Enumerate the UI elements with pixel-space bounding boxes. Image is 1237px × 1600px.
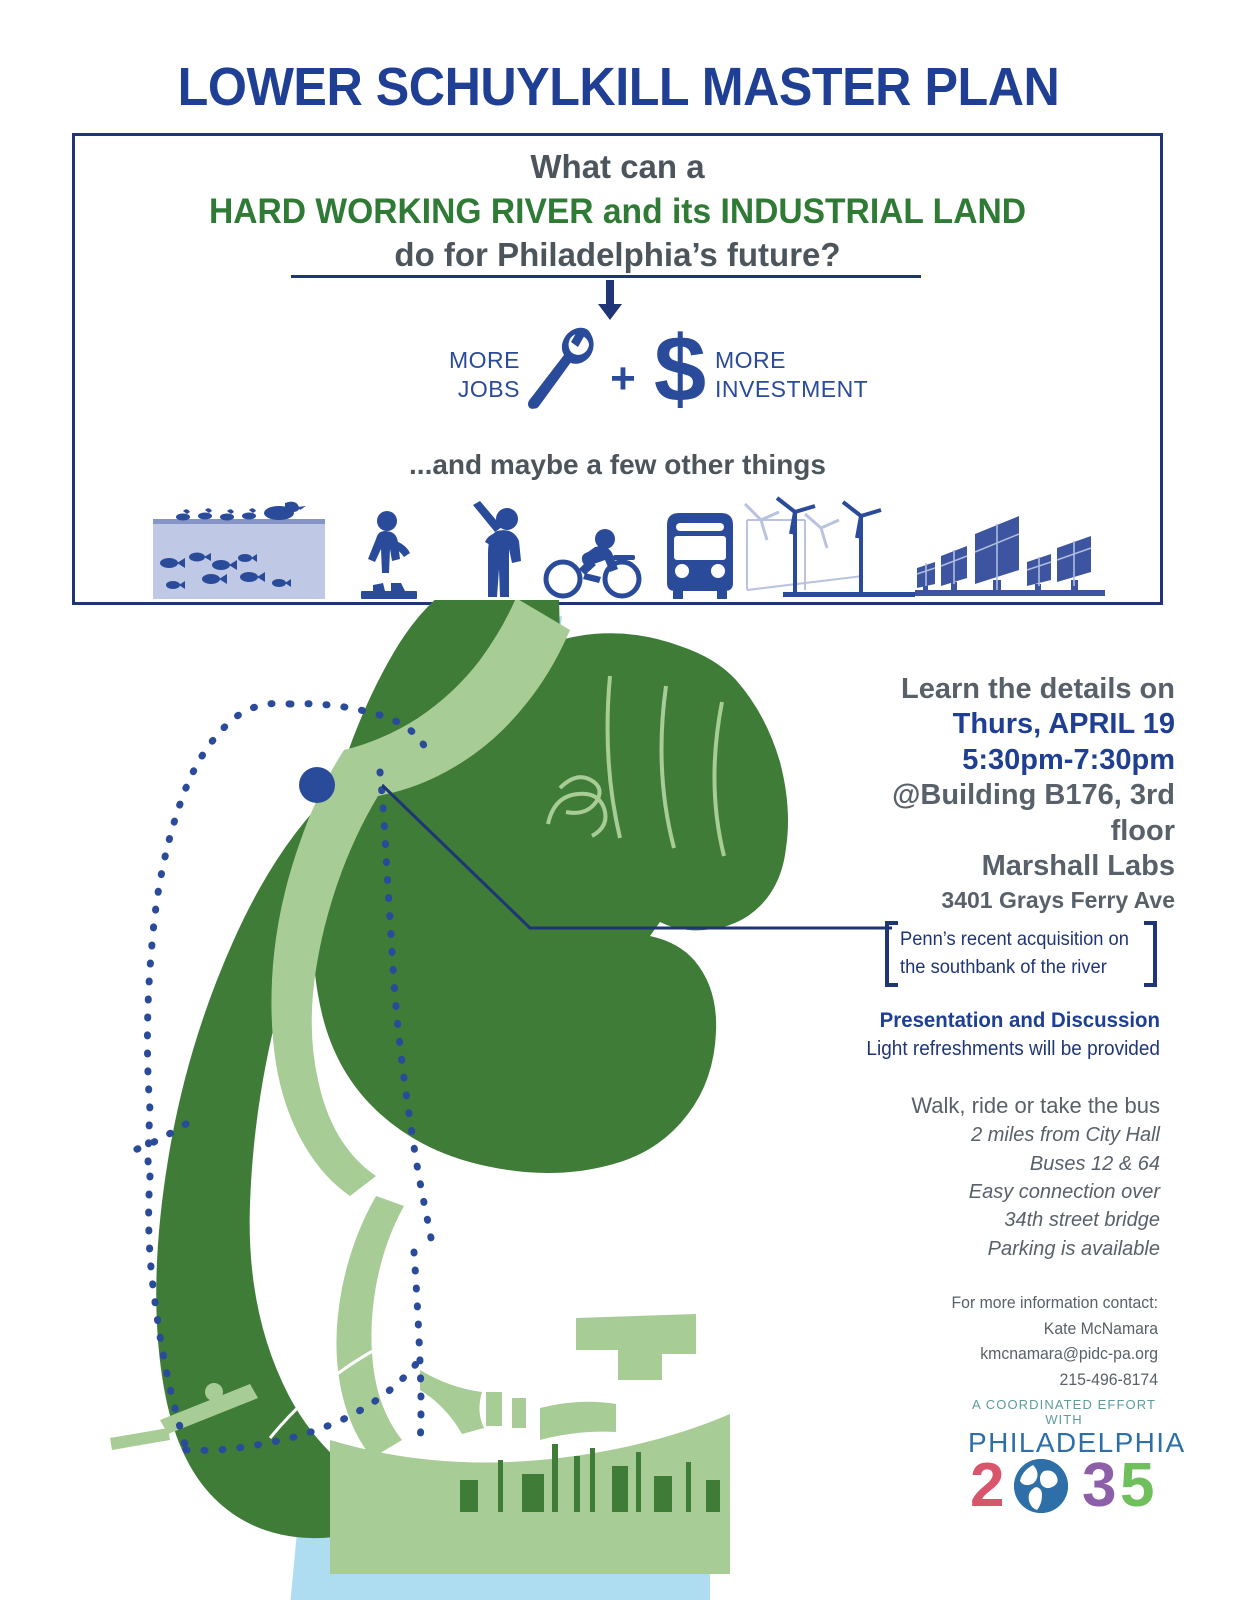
site-marker-dot	[299, 767, 335, 803]
event-time: 5:30pm-7:30pm	[820, 743, 1175, 778]
walking-person-icon	[355, 509, 423, 599]
callout-line-2: the southbank of the river	[900, 953, 1131, 981]
logo-kicker: A COORDINATED EFFORT WITH	[968, 1397, 1160, 1427]
event-date: Thurs, APRIL 19	[820, 707, 1175, 742]
solar-panels-icon	[915, 504, 1105, 599]
presentation-heading: Presentation and Discussion	[837, 1006, 1160, 1035]
plus-icon: +	[603, 354, 643, 404]
baseball-player-icon	[463, 501, 537, 599]
question-line-3: do for Philadelphia’s future?	[75, 236, 1160, 275]
water-ducks-fish-icon	[153, 501, 325, 599]
transit-line-3: 34th street bridge	[820, 1206, 1160, 1234]
dollar-sign-icon: $	[645, 322, 715, 416]
event-building: @Building B176, 3rd floor	[820, 778, 1175, 849]
map-callout: Penn’s recent acquisition on the southba…	[884, 921, 1158, 987]
more-investment-label: MORE INVESTMENT	[715, 346, 915, 404]
cyclist-icon	[543, 527, 643, 599]
logo-year-digits: 2 3 5	[968, 1455, 1160, 1513]
benefits-row: MORE JOBS + $ MORE INVESTMENT	[75, 326, 1160, 436]
refreshments-note: Light refreshments will be provided	[837, 1035, 1160, 1063]
more-jobs-line-2: JOBS	[410, 375, 520, 404]
more-investment-line-2: INVESTMENT	[715, 375, 915, 404]
maybe-other-things-text: ...and maybe a few other things	[75, 449, 1160, 481]
amenity-icon-strip	[75, 494, 1166, 599]
question-line-1: What can a	[75, 148, 1160, 187]
presentation-block: Presentation and Discussion Light refres…	[820, 1006, 1160, 1063]
transit-line-2: Easy connection over	[820, 1178, 1160, 1206]
down-arrow-icon	[596, 280, 624, 320]
learn-details-label: Learn the details on	[820, 672, 1175, 707]
more-jobs-line-1: MORE	[410, 346, 520, 375]
transit-line-1: Buses 12 & 64	[820, 1150, 1160, 1178]
arm-map-graphic	[0, 600, 840, 1600]
callout-leader-line	[382, 780, 892, 958]
transit-block: Walk, ride or take the bus 2 miles from …	[820, 1090, 1160, 1263]
event-address: 3401 Grays Ferry Ave	[820, 886, 1175, 916]
transit-heading: Walk, ride or take the bus	[820, 1090, 1160, 1121]
contact-phone: 215-496-8174	[899, 1367, 1158, 1393]
logo-digit-2: 2	[970, 1455, 1004, 1517]
more-jobs-label: MORE JOBS	[410, 346, 520, 404]
contact-block: For more information contact: Kate McNam…	[880, 1290, 1158, 1392]
header-question-box: What can a HARD WORKING RIVER and its IN…	[72, 133, 1163, 605]
logo-digit-3: 3	[1082, 1455, 1116, 1517]
transit-line-0: 2 miles from City Hall	[820, 1121, 1160, 1149]
contact-name: Kate McNamara	[899, 1316, 1158, 1342]
event-details-block: Learn the details on Thurs, APRIL 19 5:3…	[820, 672, 1175, 916]
bus-icon	[659, 509, 741, 599]
callout-line-1: Penn’s recent acquisition on	[900, 925, 1131, 953]
contact-email[interactable]: kmcnamara@pidc-pa.org	[899, 1341, 1158, 1367]
poster-root: LOWER SCHUYLKILL MASTER PLAN What can a …	[0, 0, 1237, 1600]
wind-turbines-icon	[743, 494, 923, 599]
globe-icon	[1014, 1459, 1068, 1513]
question-underline	[291, 275, 921, 278]
page-title: LOWER SCHUYLKILL MASTER PLAN	[43, 56, 1193, 118]
contact-intro: For more information contact:	[899, 1290, 1158, 1316]
event-venue-name: Marshall Labs	[820, 849, 1175, 884]
wrench-icon	[527, 326, 597, 414]
question-line-2: HARD WORKING RIVER and its INDUSTRIAL LA…	[97, 191, 1139, 232]
more-investment-line-1: MORE	[715, 346, 915, 375]
logo-digit-5: 5	[1120, 1455, 1154, 1517]
callout-text: Penn’s recent acquisition on the southba…	[900, 925, 1131, 982]
transit-line-4: Parking is available	[820, 1235, 1160, 1263]
philadelphia-2035-logo: A COORDINATED EFFORT WITH PHILADELPHIA 2…	[968, 1397, 1160, 1513]
